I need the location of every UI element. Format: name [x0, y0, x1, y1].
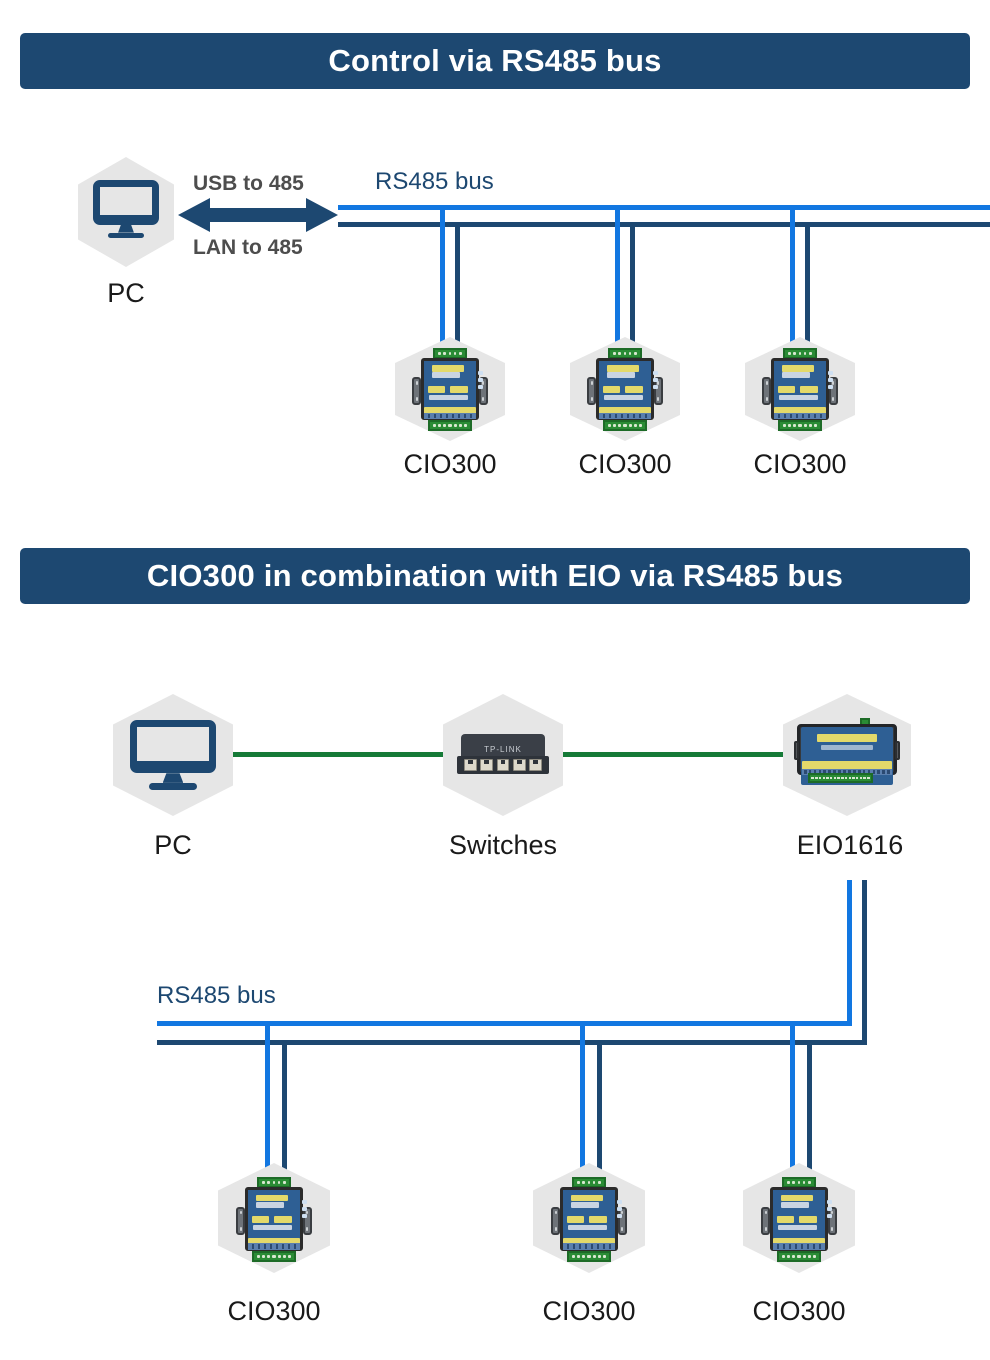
pc-monitor-icon-1 [93, 180, 159, 242]
bus-drop-navy-1-3 [805, 222, 810, 347]
cio300-label-2-1: CIO300 [204, 1296, 344, 1327]
eio1616-module-icon [793, 708, 901, 796]
eio-downlink-blue-vertical [847, 880, 852, 1026]
ethernet-link-pc-switch [222, 752, 452, 757]
cio300-label-2-3: CIO300 [729, 1296, 869, 1327]
bus-drop-blue-1-2 [615, 205, 620, 347]
rs485-bus-navy-line-1 [338, 222, 990, 227]
switch-label: Switches [428, 830, 578, 861]
eio-downlink-navy-vertical [862, 880, 867, 1045]
lan-to-485-label: LAN to 485 [193, 236, 303, 260]
pc-monitor-icon-2 [130, 720, 216, 794]
section-1-banner: Control via RS485 bus [20, 33, 970, 89]
bus-drop-blue-2-3 [790, 1021, 795, 1176]
section-2-banner: CIO300 in combination with EIO via RS485… [20, 548, 970, 604]
rs485-bus-blue-line-2 [157, 1021, 852, 1026]
cio300-module-icon-1-1 [410, 343, 490, 435]
cio300-module-icon-2-1 [234, 1172, 314, 1266]
bus-drop-blue-1-1 [440, 205, 445, 347]
bus-drop-blue-2-1 [265, 1021, 270, 1176]
bus-drop-navy-1-1 [455, 222, 460, 347]
network-switch-icon: TP-LINK [457, 726, 549, 784]
diagram-canvas: Control via RS485 bus PC USB to 485 LAN … [0, 0, 990, 1360]
cio300-module-icon-2-2 [549, 1172, 629, 1266]
ethernet-link-switch-eio [552, 752, 792, 757]
usb-to-485-label: USB to 485 [193, 172, 304, 196]
section-2-banner-text: CIO300 in combination with EIO via RS485… [147, 558, 843, 594]
rs485-bus-label-1: RS485 bus [375, 168, 494, 196]
pc-label-1: PC [76, 278, 176, 309]
bus-drop-navy-2-3 [807, 1040, 812, 1176]
bus-drop-navy-1-2 [630, 222, 635, 347]
cio300-module-icon-2-3 [759, 1172, 839, 1266]
eio1616-label: EIO1616 [775, 830, 925, 861]
pc-label-2: PC [123, 830, 223, 861]
rs485-bus-navy-line-2 [157, 1040, 867, 1045]
cio300-label-1-2: CIO300 [555, 449, 695, 480]
bus-drop-navy-2-1 [282, 1040, 287, 1176]
section-1-banner-text: Control via RS485 bus [328, 43, 661, 79]
bus-drop-blue-1-3 [790, 205, 795, 347]
rs485-bus-blue-line-1 [338, 205, 990, 210]
cio300-module-icon-1-3 [760, 343, 840, 435]
bidirectional-arrow-icon [178, 196, 338, 234]
cio300-label-1-1: CIO300 [380, 449, 520, 480]
bus-drop-blue-2-2 [580, 1021, 585, 1176]
bus-drop-navy-2-2 [597, 1040, 602, 1176]
rs485-bus-label-2: RS485 bus [157, 982, 276, 1010]
switch-brand-label: TP-LINK [461, 745, 546, 754]
cio300-label-1-3: CIO300 [730, 449, 870, 480]
cio300-label-2-2: CIO300 [519, 1296, 659, 1327]
cio300-module-icon-1-2 [585, 343, 665, 435]
